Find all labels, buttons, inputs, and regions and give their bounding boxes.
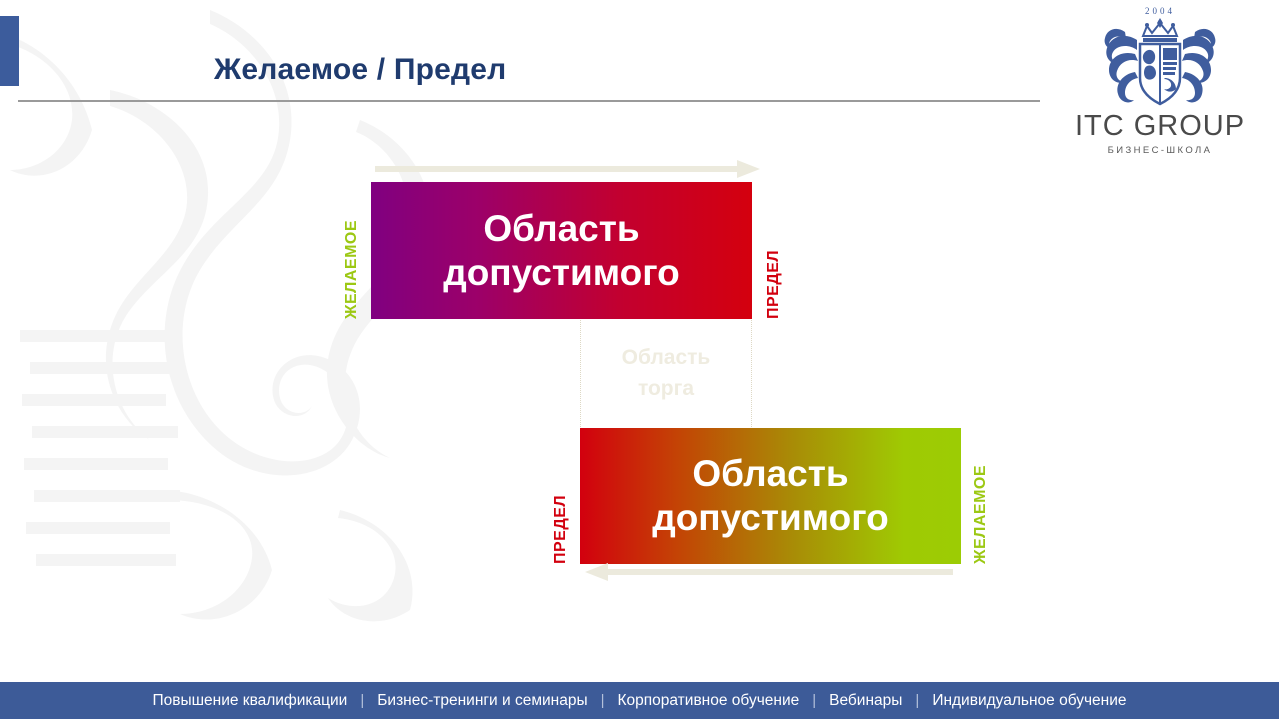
footer-item-2[interactable]: Корпоративное обучение [605, 692, 813, 710]
label-top-left-text: ЖЕЛАЕМОЕ [343, 220, 361, 319]
label-top-right-text: ПРЕДЕЛ [765, 250, 783, 319]
label-top-right: ПРЕДЕЛ [765, 182, 783, 319]
footer-nav: Повышение квалификации | Бизнес-тренинги… [0, 682, 1279, 719]
footer-items: Повышение квалификации | Бизнес-тренинги… [139, 692, 1139, 710]
band-bottom-zone-of-agreement: Область допустимого [580, 428, 961, 564]
arrow-right-icon [375, 160, 760, 178]
band-top-zone-of-agreement: Область допустимого [371, 182, 752, 319]
footer-item-3[interactable]: Вебинары [816, 692, 915, 710]
logo-subtitle: БИЗНЕС-ШКОЛА [1057, 145, 1263, 156]
svg-text:2004: 2004 [1145, 6, 1175, 16]
footer-separator: | [360, 692, 364, 709]
label-bottom-left-text: ПРЕДЕЛ [552, 495, 570, 564]
logo: 2004 ITC GROUP БИЗНЕС-ШКОЛА [1057, 2, 1263, 162]
label-bottom-left: ПРЕДЕЛ [552, 428, 570, 564]
label-bottom-right-text: ЖЕЛАЕМОЕ [972, 465, 990, 564]
label-top-left: ЖЕЛАЕМОЕ [343, 182, 361, 319]
footer-item-4[interactable]: Индивидуальное обучение [919, 692, 1139, 710]
middle-bargaining-zone: Область торга [580, 320, 752, 427]
band-top-line1: Область [443, 207, 680, 251]
footer-item-0[interactable]: Повышение квалификации [139, 692, 360, 710]
footer-separator: | [601, 692, 605, 709]
title-divider [18, 100, 1040, 102]
middle-zone-line1: Область [622, 343, 711, 373]
footer-separator: | [915, 692, 919, 709]
band-bottom-line2: допустимого [652, 496, 889, 540]
label-bottom-right: ЖЕЛАЕМОЕ [972, 428, 990, 564]
middle-zone-line2: торга [638, 374, 694, 404]
header-accent-bar [0, 16, 19, 86]
arrow-left-icon [585, 563, 953, 581]
band-top-line2: допустимого [443, 251, 680, 295]
footer-separator: | [812, 692, 816, 709]
logo-name: ITC GROUP [1057, 112, 1263, 141]
page-title: Желаемое / Предел [214, 53, 506, 87]
crest-icon: 2004 [1085, 2, 1235, 114]
footer-item-1[interactable]: Бизнес-тренинги и семинары [364, 692, 600, 710]
band-bottom-line1: Область [652, 452, 889, 496]
